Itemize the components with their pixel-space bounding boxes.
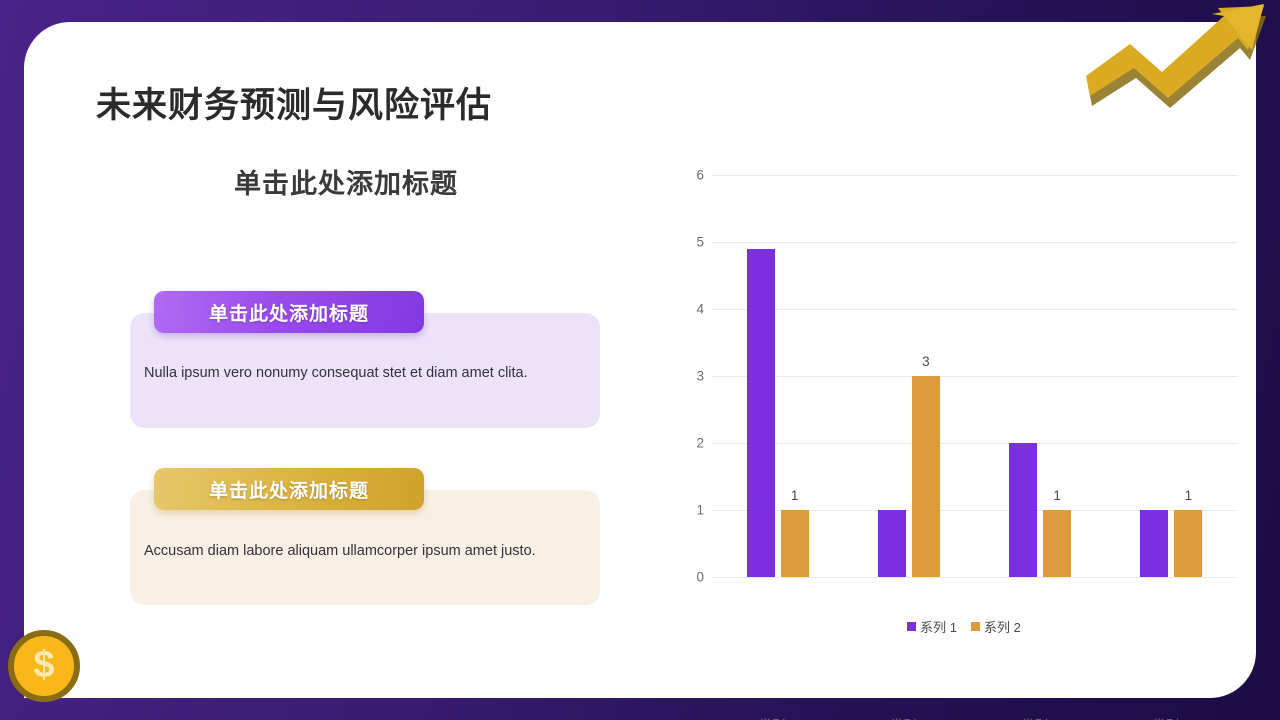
chart-y-tick: 1 — [682, 503, 704, 518]
chart-legend-item[interactable]: 系列 1 — [907, 617, 957, 636]
chart-gridline — [712, 577, 1237, 578]
chart-bar-value: 1 — [1185, 488, 1193, 503]
info-card-1-body: Nulla ipsum vero nonumy consequat stet e… — [144, 363, 584, 385]
chart-bar — [878, 510, 906, 577]
legend-swatch-icon — [971, 622, 980, 631]
bar-chart[interactable]: 0123456 1311 类别 1类别 2类别 3类别 4 — [674, 152, 1254, 642]
growth-arrow-icon — [1080, 0, 1270, 108]
dollar-sign-glyph: $ — [33, 646, 54, 684]
chart-gridline — [712, 376, 1237, 377]
chart-bar — [747, 249, 775, 577]
chart-bar — [912, 376, 940, 577]
chart-x-tick: 类别 4 — [1152, 714, 1190, 720]
chart-legend-item[interactable]: 系列 2 — [971, 617, 1021, 636]
info-card-2-badge[interactable]: 单击此处添加标题 — [154, 468, 424, 510]
page-subtitle: 单击此处添加标题 — [234, 162, 458, 201]
chart-x-tick: 类别 1 — [758, 714, 796, 720]
chart-legend: 系列 1系列 2 — [674, 617, 1254, 636]
chart-bar — [1140, 510, 1168, 577]
dollar-coin-icon: $ — [8, 630, 80, 702]
slide-card: 未来财务预测与风险评估 单击此处添加标题 单击此处添加标题 Nulla ipsu… — [24, 22, 1256, 698]
chart-y-tick: 5 — [682, 235, 704, 250]
chart-gridline — [712, 242, 1237, 243]
chart-y-tick: 3 — [682, 369, 704, 384]
info-card-1-badge[interactable]: 单击此处添加标题 — [154, 291, 424, 333]
chart-bar — [1043, 510, 1071, 577]
chart-x-tick: 类别 3 — [1021, 714, 1059, 720]
chart-y-tick: 0 — [682, 570, 704, 585]
chart-x-tick: 类别 2 — [890, 714, 928, 720]
chart-bar — [1174, 510, 1202, 577]
legend-label: 系列 1 — [920, 617, 957, 636]
chart-bar-value: 1 — [1053, 488, 1061, 503]
chart-gridline — [712, 309, 1237, 310]
chart-bar — [781, 510, 809, 577]
chart-gridline — [712, 443, 1237, 444]
page-title: 未来财务预测与风险评估 — [96, 77, 492, 128]
chart-gridline — [712, 175, 1237, 176]
info-card-2-body: Accusam diam labore aliquam ullamcorper … — [144, 541, 584, 563]
chart-bar-value: 3 — [922, 354, 930, 369]
chart-bar — [1009, 443, 1037, 577]
legend-label: 系列 2 — [984, 617, 1021, 636]
legend-swatch-icon — [907, 622, 916, 631]
chart-bar-value: 1 — [791, 488, 799, 503]
chart-y-tick: 4 — [682, 302, 704, 317]
chart-y-tick: 2 — [682, 436, 704, 451]
chart-y-tick: 6 — [682, 168, 704, 183]
